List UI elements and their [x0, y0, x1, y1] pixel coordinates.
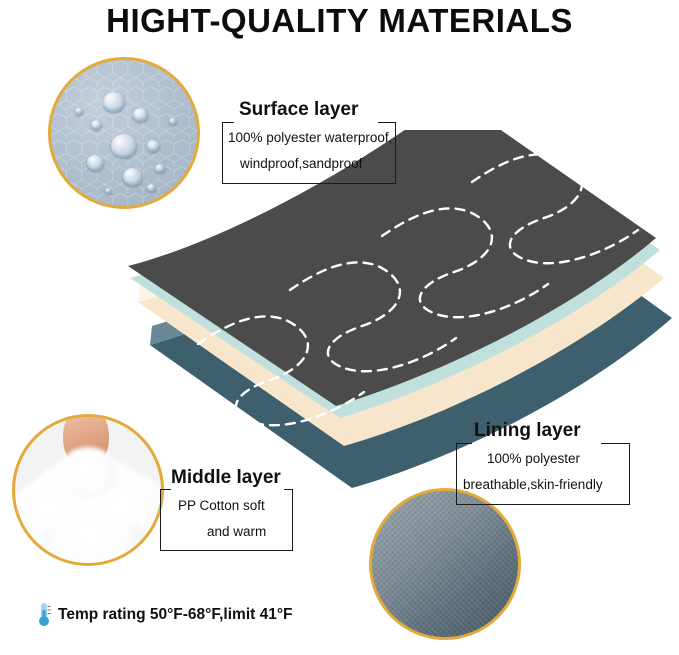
surface-box-leader-right	[378, 122, 396, 124]
lining-fabric-photo	[369, 488, 521, 640]
middle-box-leader-right	[284, 489, 293, 491]
surface-layer-line2: windproof,sandproof	[240, 152, 362, 176]
middle-layer-line2: and warm	[207, 520, 266, 544]
middle-layer-line1: PP Cotton soft	[178, 494, 265, 518]
temp-rating-label: Temp rating 50°F-68°F,limit 41°F	[58, 606, 293, 624]
lining-layer-line1: 100% polyester	[487, 447, 580, 471]
thermometer-icon	[36, 602, 52, 628]
lining-box-leader-left	[456, 443, 472, 445]
middle-box-leader-left	[160, 489, 171, 491]
middle-layer-title: Middle layer	[171, 467, 281, 489]
surface-layer-title: Surface layer	[239, 99, 358, 121]
fabric-weave-texture	[372, 491, 518, 637]
surface-box-leader-left	[222, 122, 234, 124]
lining-box-leader-right	[601, 443, 630, 445]
page-title: HIGHT-QUALITY MATERIALS	[0, 2, 679, 40]
lining-layer-line2: breathable,skin-friendly	[463, 473, 603, 497]
temp-rating-row: Temp rating 50°F-68°F,limit 41°F	[36, 602, 293, 628]
lining-layer-title: Lining layer	[474, 420, 581, 442]
surface-layer-line1: 100% polyester waterproof,	[228, 126, 392, 150]
